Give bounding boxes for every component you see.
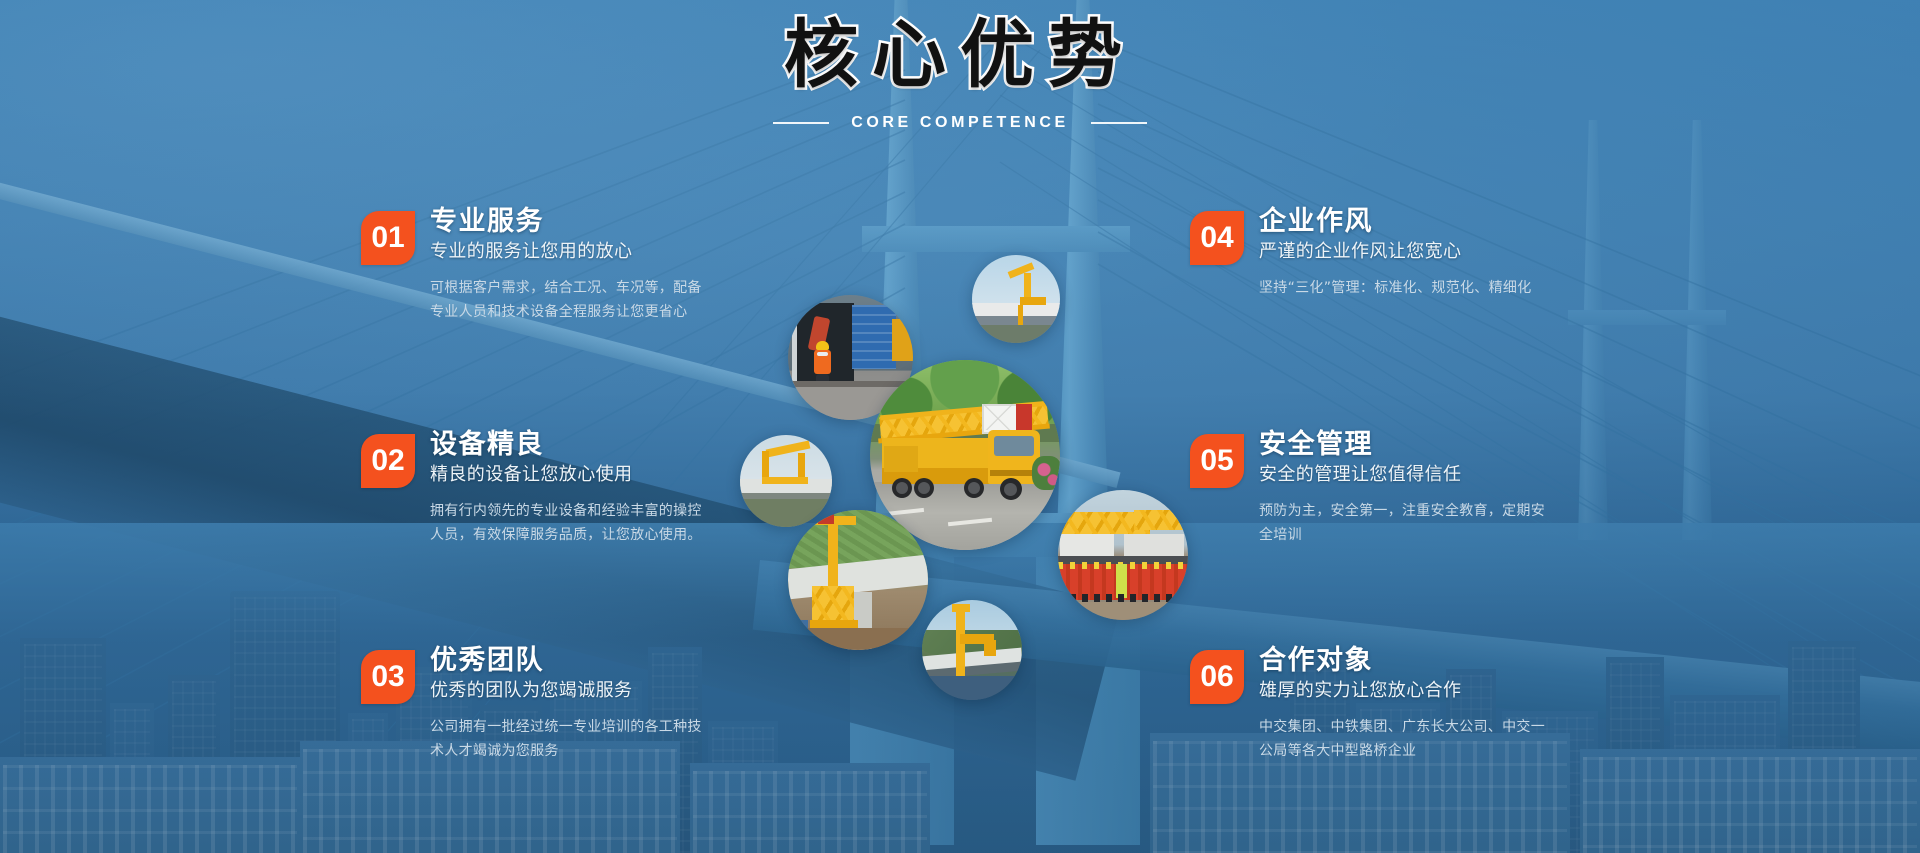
feature-badge-05: 05 (1190, 434, 1244, 488)
feature-description-01: 可根据客户需求，结合工况、车况等，配备专业人员和技术设备全程服务让您更省心 (430, 276, 710, 325)
feature-heading-03: 优秀团队 (430, 646, 710, 676)
feature-subheading-04: 严谨的企业作风让您宽心 (1259, 241, 1532, 264)
feature-subheading-02: 精良的设备让您放心使用 (430, 464, 710, 487)
photo-cluster (740, 255, 1220, 715)
feature-subheading-05: 安全的管理让您值得信任 (1259, 464, 1551, 487)
feature-item-02[interactable]: 02 设备精良 精良的设备让您放心使用 拥有行内领先的专业设备和经验丰富的操控人… (361, 430, 710, 548)
feature-badge-01: 01 (361, 211, 415, 265)
feature-badge-04: 04 (1190, 211, 1244, 265)
photo-bridge-inspection (972, 255, 1060, 343)
photo-team (1058, 490, 1188, 620)
title-block: 核心优势 CORE COMPETENCE (0, 18, 1920, 132)
feature-item-06[interactable]: 06 合作对象 雄厚的实力让您放心合作 中交集团、中铁集团、广东长大公司、中交一… (1190, 646, 1551, 764)
feature-badge-02: 02 (361, 434, 415, 488)
subtitle-line-right (1091, 122, 1147, 124)
feature-subheading-06: 雄厚的实力让您放心合作 (1259, 680, 1551, 703)
subtitle-line-left (773, 122, 829, 124)
feature-item-03[interactable]: 03 优秀团队 优秀的团队为您竭诚服务 公司拥有一批经过统一专业培训的各工种技术… (361, 646, 710, 764)
feature-item-04[interactable]: 04 企业作风 严谨的企业作风让您宽心 坚持“三化”管理：标准化、规范化、精细化 (1190, 207, 1532, 300)
feature-description-02: 拥有行内领先的专业设备和经验丰富的操控人员，有效保障服务品质，让您放心使用。 (430, 499, 710, 548)
page-title: 核心优势 (0, 18, 1920, 92)
feature-heading-01: 专业服务 (430, 207, 710, 237)
feature-description-06: 中交集团、中铁集团、广东长大公司、中交一公局等各大中型路桥企业 (1259, 715, 1551, 764)
hero-banner: 核心优势 CORE COMPETENCE (0, 0, 1920, 853)
feature-item-05[interactable]: 05 安全管理 安全的管理让您值得信任 预防为主，安全第一，注重安全教育，定期安… (1190, 430, 1551, 548)
feature-heading-02: 设备精良 (430, 430, 710, 460)
feature-badge-06: 06 (1190, 650, 1244, 704)
photo-construction-site (788, 510, 928, 650)
feature-description-04: 坚持“三化”管理：标准化、规范化、精细化 (1259, 276, 1532, 301)
photo-bridge-deck (922, 600, 1022, 700)
feature-description-03: 公司拥有一批经过统一专业培训的各工种技术人才竭诚为您服务 (430, 715, 710, 764)
feature-heading-04: 企业作风 (1259, 207, 1532, 237)
feature-heading-05: 安全管理 (1259, 430, 1551, 460)
feature-badge-03: 03 (361, 650, 415, 704)
feature-subheading-03: 优秀的团队为您竭诚服务 (430, 680, 710, 703)
page-subtitle: CORE COMPETENCE (851, 114, 1069, 132)
feature-item-01[interactable]: 01 专业服务 专业的服务让您用的放心 可根据客户需求，结合工况、车况等，配备专… (361, 207, 710, 325)
feature-description-05: 预防为主，安全第一，注重安全教育，定期安全培训 (1259, 499, 1551, 548)
feature-subheading-01: 专业的服务让您用的放心 (430, 241, 710, 264)
subtitle-row: CORE COMPETENCE (0, 114, 1920, 132)
feature-heading-06: 合作对象 (1259, 646, 1551, 676)
